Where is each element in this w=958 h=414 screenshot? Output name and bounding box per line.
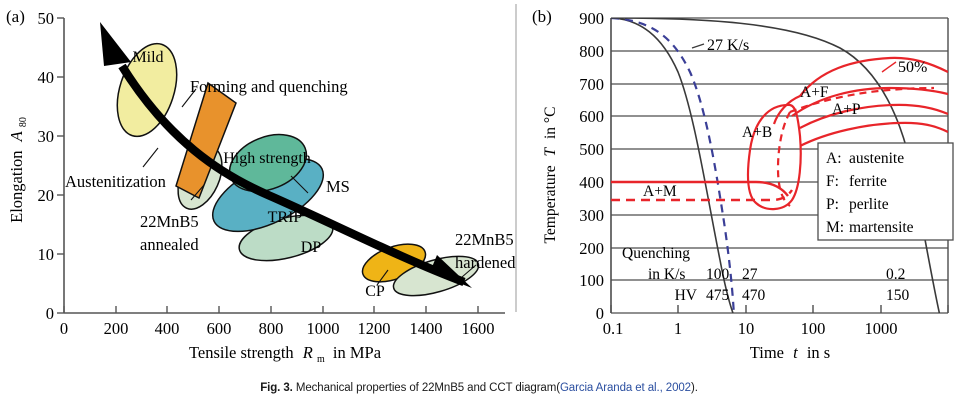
panel-b-ylabel-tail: in °C <box>542 107 559 139</box>
xtick-1200: 1200 <box>358 319 391 338</box>
ytick-50: 50 <box>38 9 55 28</box>
xtick-200: 200 <box>104 319 129 338</box>
legend-key-m: M: <box>826 219 844 236</box>
xtick-600: 600 <box>207 319 232 338</box>
svg-text:Temperature T: Temperature T in °C <box>542 107 559 244</box>
panel-a-ylabel-symbol: A <box>7 130 26 142</box>
ytick-30: 30 <box>38 127 55 146</box>
rate-table-label-line2: in K/s <box>648 266 685 283</box>
b-ytick-200: 200 <box>579 239 604 258</box>
ytick-10: 10 <box>38 245 55 264</box>
panel-b-ylabel: Temperature T in °C <box>542 107 559 244</box>
b-ytick-100: 100 <box>579 271 604 290</box>
annotation-a-plus-f: A+F <box>800 84 829 101</box>
annotation-a-plus-b: A+B <box>742 124 772 141</box>
b-xtick-0p1: 0.1 <box>603 319 624 338</box>
panel-b-xlabel-tail: in s <box>807 343 830 362</box>
legend-key-p: P: <box>826 196 839 213</box>
figure-svg: (a) Elongation A 80 50 40 30 20 10 0 <box>0 0 958 414</box>
legend-key-f: F: <box>826 173 839 190</box>
xtick-1600: 1600 <box>462 319 495 338</box>
panel-a-ylabel: Elongation A 80 <box>7 117 29 223</box>
xtick-800: 800 <box>259 319 284 338</box>
caption-text: Mechanical properties of 22MnB5 and CCT … <box>296 382 556 394</box>
panel-a-xlabel-symbol: R <box>302 343 313 362</box>
rate-table-label-line1: Quenching <box>622 245 690 262</box>
label-dp: TRIP <box>268 209 303 226</box>
label-22mnb5-hardened-line2: hardened <box>455 253 516 272</box>
xtick-0: 0 <box>60 319 68 338</box>
b-ytick-300: 300 <box>579 206 604 225</box>
b-xtick-1: 1 <box>674 319 682 338</box>
panel-a-xlabel-tail: in MPa <box>333 343 382 362</box>
annotation-27kps: 27 K/s <box>707 37 749 54</box>
figure-3: (a) Elongation A 80 50 40 30 20 10 0 <box>0 0 958 414</box>
xtick-1400: 1400 <box>410 319 443 338</box>
legend-val-a: austenite <box>849 150 904 167</box>
hv-value-470: 470 <box>742 287 766 304</box>
annotation-a-plus-p: A+P <box>832 101 861 118</box>
xtick-400: 400 <box>155 319 180 338</box>
figure-caption: Fig. 3. Mechanical properties of 22MnB5 … <box>0 382 958 394</box>
b-ytick-700: 700 <box>579 75 604 94</box>
rate-value-100: 100 <box>706 266 730 283</box>
panel-b-xlabel-symbol: t <box>793 343 798 362</box>
b-ytick-900: 900 <box>579 9 604 28</box>
panel-a-label: (a) <box>6 7 25 26</box>
b-ytick-800: 800 <box>579 42 604 61</box>
panel-a-xtick-labels: 0 200 400 600 800 1000 1200 1400 1600 <box>60 319 495 338</box>
label-ms: CP <box>365 283 385 300</box>
hv-value-150: 150 <box>886 287 910 304</box>
annotation-50pct: 50% <box>898 59 927 76</box>
panel-b-ylabel-symbol: T <box>542 147 559 157</box>
b-ytick-600: 600 <box>579 107 604 126</box>
ytick-20: 20 <box>38 186 55 205</box>
b-xtick-1000: 1000 <box>865 319 898 338</box>
b-xtick-100: 100 <box>801 319 826 338</box>
label-22mnb5-hardened-line1: 22MnB5 <box>455 230 514 249</box>
panel-b-xlabel-main: Time <box>750 343 784 362</box>
rate-value-0p2: 0.2 <box>886 266 905 283</box>
b-xtick-10: 10 <box>738 319 755 338</box>
ytick-40: 40 <box>38 68 55 87</box>
caption-ref-close: ). <box>691 382 698 394</box>
ytick-0: 0 <box>46 304 54 323</box>
label-forming-and-quenching: MS <box>326 177 350 196</box>
legend-val-p: perlite <box>849 196 889 213</box>
panel-a-xlabel-sub: m <box>317 354 325 365</box>
cct-legend: A: austenite F: ferrite P: perlite M: ma… <box>818 143 953 240</box>
hv-value-475: 475 <box>706 287 730 304</box>
b-ytick-500: 500 <box>579 140 604 159</box>
panel-a-ylabel-sub: 80 <box>18 117 29 127</box>
label-high-strength: Forming and quenching <box>190 77 348 96</box>
panel-b-label: (b) <box>532 7 552 26</box>
rate-value-27: 27 <box>742 266 758 283</box>
panel-a-xlabel-main: Tensile strength <box>189 343 294 362</box>
label-cp: DP <box>301 239 322 256</box>
caption-label: Fig. 3. <box>260 382 293 394</box>
annotation-a-plus-m: A+M <box>643 183 677 200</box>
legend-key-a: A: <box>826 150 842 167</box>
legend-val-m: martensite <box>849 219 914 236</box>
legend-val-f: ferrite <box>849 173 887 190</box>
xtick-1000: 1000 <box>307 319 340 338</box>
caption-reference-link[interactable]: Garcia Aranda et al., 2002 <box>560 382 691 394</box>
label-austenitization: Austenitization <box>65 172 166 191</box>
svg-text:Elongation A 8: Elongation A 80 <box>7 117 29 223</box>
rate-table-hv-label: HV <box>675 287 698 304</box>
b-ytick-400: 400 <box>579 173 604 192</box>
label-22mnb5-annealed-line2: annealed <box>140 235 199 254</box>
panel-a-ylabel-main: Elongation <box>7 150 26 222</box>
label-trip: High strength <box>223 150 311 167</box>
label-mild: Mild <box>132 49 163 66</box>
panel-b-ylabel-main: Temperature <box>542 165 559 243</box>
label-22mnb5-annealed-line1: 22MnB5 <box>140 212 199 231</box>
